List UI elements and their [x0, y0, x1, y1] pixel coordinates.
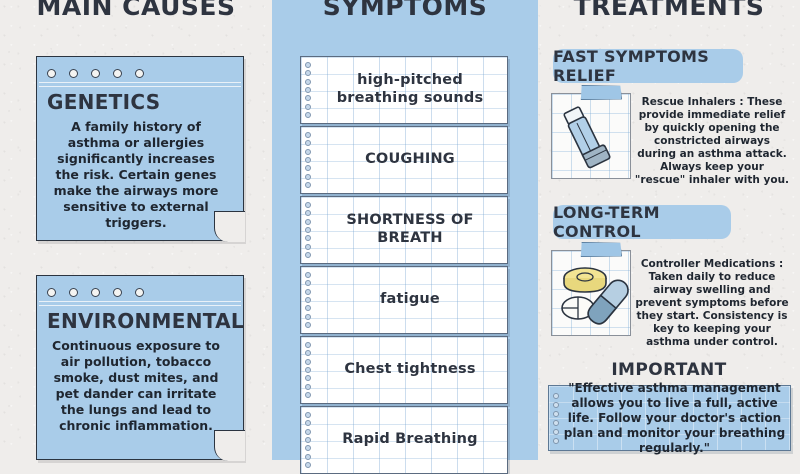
- hole-punch-icon: [305, 350, 311, 356]
- hole-punch-icon: [305, 235, 311, 241]
- hole-punch-icon: [305, 95, 311, 101]
- hole-punch-icon: [305, 445, 311, 451]
- important-quote-text: "Effective asthma management allows you …: [564, 381, 786, 456]
- hole-punch-icon: [553, 411, 559, 417]
- symptom-card[interactable]: fatigue: [300, 266, 508, 334]
- hole-punch-icon: [305, 182, 311, 188]
- hole-punch-icon: [305, 375, 311, 381]
- hole-punch-icon: [553, 393, 559, 399]
- hole-punch-icon: [47, 69, 56, 78]
- symptom-label: high-pitched breathing sounds: [319, 72, 501, 107]
- note-rule-line: [39, 301, 241, 302]
- note-rule-line: [39, 82, 241, 83]
- hole-punch-icon: [305, 252, 311, 258]
- hole-punch-column: [304, 271, 312, 329]
- hole-punch-icon: [305, 149, 311, 155]
- page-fold-corner: [214, 211, 245, 242]
- hole-punch-icon: [305, 322, 311, 328]
- treatment-badge-fast-relief[interactable]: FAST SYMPTOMS RELIEF: [553, 49, 743, 83]
- hole-punch-icon: [69, 69, 78, 78]
- hole-punch-icon: [135, 288, 144, 297]
- hole-punch-icon: [69, 288, 78, 297]
- symptom-card[interactable]: Rapid Breathing: [300, 406, 508, 474]
- symptom-card[interactable]: Chest tightness: [300, 336, 508, 404]
- symptom-label: SHORTNESS OF BREATH: [319, 212, 501, 247]
- column-title-treatments: TREATMENTS: [538, 0, 800, 21]
- hole-punch-icon: [305, 244, 311, 250]
- important-heading: IMPORTANT: [538, 360, 800, 380]
- note-rule-line: [39, 86, 241, 87]
- hole-punch-icon: [135, 69, 144, 78]
- column-title-symptoms: SYMPTOMS: [272, 0, 538, 21]
- symptom-label: COUGHING: [319, 151, 501, 169]
- symptom-card[interactable]: SHORTNESS OF BREATH: [300, 196, 508, 264]
- hole-punch-icon: [47, 288, 56, 297]
- symptom-label: fatigue: [319, 291, 501, 309]
- hole-punch-icon: [305, 384, 311, 390]
- inhaler-icon: [552, 94, 632, 180]
- hole-punch-icon: [305, 132, 311, 138]
- hole-punch-icon: [305, 112, 311, 118]
- hole-punch-column: [304, 341, 312, 399]
- symptom-card[interactable]: high-pitched breathing sounds: [300, 56, 508, 124]
- pills-icon: [552, 251, 632, 337]
- hole-punch-icon: [305, 79, 311, 85]
- hole-punch-icon: [305, 104, 311, 110]
- hole-punch-icon: [305, 342, 311, 348]
- column-main-causes: MAIN CAUSES GENETICS A family history of…: [0, 0, 272, 460]
- hole-punch-icon: [305, 437, 311, 443]
- symptom-card[interactable]: COUGHING: [300, 126, 508, 194]
- cause-card-body: Continuous exposure to air pollution, to…: [49, 338, 223, 434]
- hole-punch-icon: [113, 288, 122, 297]
- hole-punch-icon: [553, 420, 559, 426]
- hole-punch-icon: [305, 367, 311, 373]
- hole-punch-icon: [305, 174, 311, 180]
- hole-punch-icon: [305, 272, 311, 278]
- hole-punch-column: [552, 391, 560, 445]
- hole-punch-icon: [305, 165, 311, 171]
- hole-punch-icon: [305, 420, 311, 426]
- cause-card-heading: GENETICS: [47, 90, 233, 114]
- hole-punch-icon: [305, 140, 311, 146]
- hole-punch-icon: [305, 454, 311, 460]
- hole-punch-icon: [305, 392, 311, 398]
- column-title-main-causes: MAIN CAUSES: [0, 0, 272, 21]
- important-quote-box[interactable]: "Effective asthma management allows you …: [548, 385, 791, 451]
- hole-punch-icon: [305, 429, 311, 435]
- column-treatments: TREATMENTS FAST SYMPTOMS RELIEF Rescue I…: [538, 0, 800, 460]
- symptom-label: Rapid Breathing: [319, 431, 501, 449]
- hole-punch-icon: [553, 429, 559, 435]
- page-fold-corner: [214, 430, 245, 461]
- hole-punch-column: [304, 201, 312, 259]
- hole-punch-icon: [305, 210, 311, 216]
- pills-illustration-frame: [551, 250, 631, 336]
- cause-card-heading: ENVIRONMENTAL: [47, 309, 233, 333]
- cause-card-environmental[interactable]: ENVIRONMENTAL Continuous exposure to air…: [36, 275, 244, 460]
- hole-punch-icon: [305, 297, 311, 303]
- hole-punch-icon: [553, 402, 559, 408]
- hole-punch-icon: [305, 227, 311, 233]
- treatment-text-fast-relief: Rescue Inhalers : These provide immediat…: [634, 96, 790, 187]
- treatment-badge-long-term[interactable]: LONG-TERM CONTROL: [553, 205, 731, 239]
- hole-punch-icon: [305, 412, 311, 418]
- hole-punch-column: [304, 61, 312, 119]
- treatment-text-long-term: Controller Medications : Taken daily to …: [634, 258, 790, 349]
- hole-punch-column: [304, 411, 312, 469]
- hole-punch-icon: [305, 219, 311, 225]
- hole-punch-icon: [305, 157, 311, 163]
- hole-punch-icon: [305, 62, 311, 68]
- hole-punch-icon: [113, 69, 122, 78]
- hole-punch-icon: [305, 462, 311, 468]
- hole-punch-icon: [305, 289, 311, 295]
- hole-punch-icon: [305, 202, 311, 208]
- inhaler-illustration-frame: [551, 93, 631, 179]
- hole-punch-icon: [553, 438, 559, 444]
- hole-punch-icon: [305, 359, 311, 365]
- note-rule-line: [39, 305, 241, 306]
- hole-punch-icon: [305, 305, 311, 311]
- hole-punch-icon: [305, 87, 311, 93]
- hole-punch-icon: [305, 314, 311, 320]
- hole-punch-column: [304, 131, 312, 189]
- hole-punch-row: [47, 286, 233, 298]
- hole-punch-icon: [91, 69, 100, 78]
- hole-punch-row: [47, 67, 233, 79]
- hole-punch-icon: [305, 280, 311, 286]
- symptom-label: Chest tightness: [319, 361, 501, 379]
- infographic-root: MAIN CAUSES GENETICS A family history of…: [0, 0, 800, 460]
- cause-card-genetics[interactable]: GENETICS A family history of asthma or a…: [36, 56, 244, 241]
- cause-card-body: A family history of asthma or allergies …: [49, 119, 223, 231]
- hole-punch-icon: [91, 288, 100, 297]
- hole-punch-icon: [305, 70, 311, 76]
